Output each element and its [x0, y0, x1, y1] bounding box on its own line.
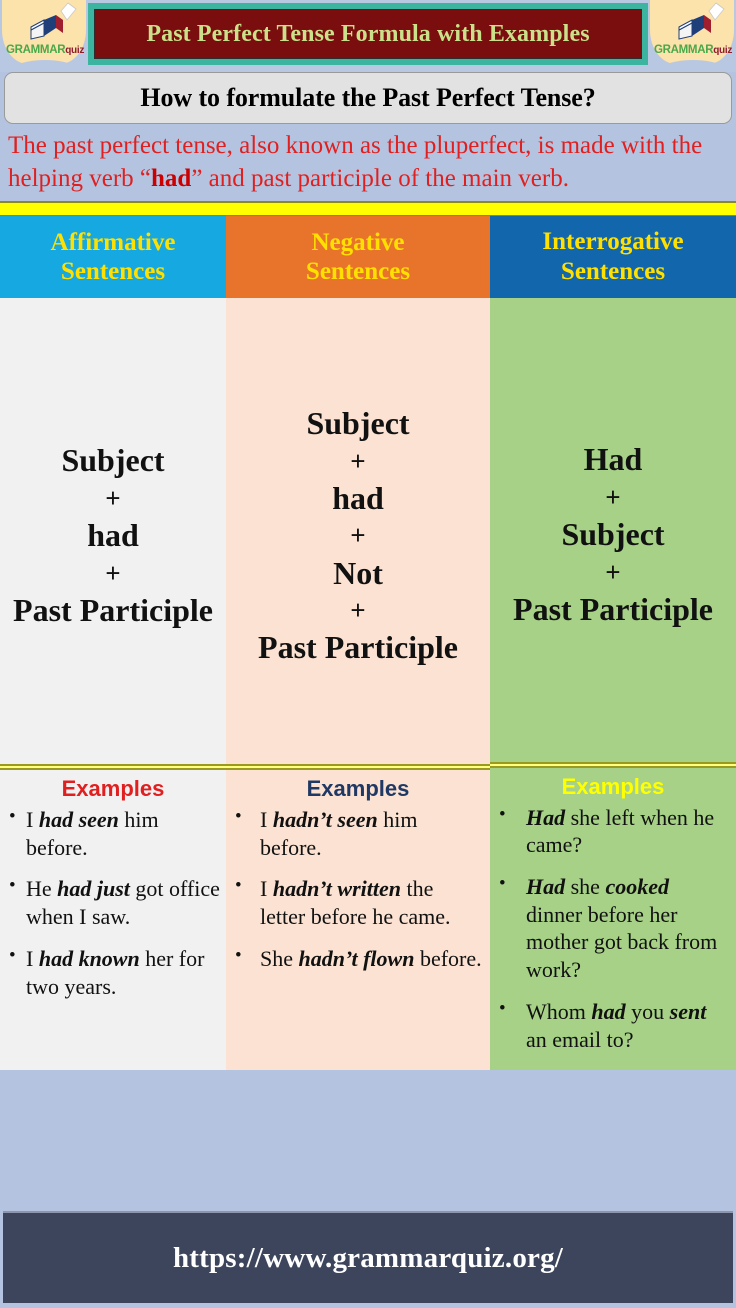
example-text-post: dinner before her mother got back from w…: [526, 902, 717, 982]
formula-term: Past Participle: [513, 592, 713, 628]
column-header-interrogative: Interrogative Sentences: [490, 216, 736, 298]
example-text-pre: I: [26, 946, 39, 971]
formula-term: Subject: [561, 517, 664, 553]
formula-plus: +: [350, 593, 365, 628]
example-text-pre: Whom: [526, 999, 591, 1024]
example-text-bold: had just: [57, 876, 130, 901]
examples-affirmative: Examples I had seen him before. He had j…: [0, 770, 226, 1070]
logo-right: GRAMMARquiz: [648, 0, 736, 72]
examples-list: Had she left when he came? Had she cooke…: [496, 804, 730, 1054]
example-text-bold: had known: [39, 946, 140, 971]
intro-emphasis: had: [151, 165, 191, 192]
intro-paragraph: The past perfect tense, also known as th…: [0, 124, 736, 201]
formula-term: Subject: [306, 406, 409, 442]
column-header-line1: Affirmative: [51, 228, 176, 258]
examples-interrogative: Examples Had she left when he came? Had …: [490, 768, 736, 1070]
example-text-bold: hadn’t seen: [273, 807, 378, 832]
list-item: I hadn’t seen him before.: [232, 806, 484, 861]
list-item: He had just got office when I saw.: [6, 875, 220, 930]
example-text-pre: He: [26, 876, 57, 901]
example-text-pre: I: [26, 807, 39, 832]
column-affirmative: Affirmative Sentences Subject + had + Pa…: [0, 216, 226, 1070]
formula-term: Not: [333, 556, 383, 592]
formula-affirmative: Subject + had + Past Participle: [0, 298, 226, 764]
formula-plus: +: [350, 518, 365, 553]
example-text-bold: hadn’t flown: [299, 946, 415, 971]
top-banner: GRAMMARquiz Past Perfect Tense Formula w…: [0, 0, 736, 72]
example-text-bold2: cooked: [605, 874, 669, 899]
section-heading-box: How to formulate the Past Perfect Tense?: [4, 72, 732, 124]
list-item: Had she left when he came?: [496, 804, 730, 859]
columns-container: Affirmative Sentences Subject + had + Pa…: [0, 216, 736, 1070]
formula-negative: Subject + had + Not + Past Participle: [226, 298, 490, 764]
examples-list: I had seen him before. He had just got o…: [6, 806, 220, 1000]
list-item: Had she cooked dinner before her mother …: [496, 873, 730, 984]
example-text-post: before.: [414, 946, 481, 971]
logo-wave-shape: [648, 60, 736, 72]
example-text-bold: Had: [526, 874, 565, 899]
example-text-mid: she: [565, 874, 605, 899]
formula-plus: +: [605, 480, 620, 515]
example-text-pre: She: [260, 946, 299, 971]
footer: https://www.grammarquiz.org/: [0, 1208, 736, 1308]
examples-title: Examples: [6, 776, 220, 802]
column-header-line2: Sentences: [61, 257, 165, 287]
infographic-page: GRAMMARquiz Past Perfect Tense Formula w…: [0, 0, 736, 1308]
column-negative: Negative Sentences Subject + had + Not +…: [226, 216, 490, 1070]
list-item: She hadn’t flown before.: [232, 945, 484, 973]
formula-interrogative: Had + Subject + Past Participle: [490, 298, 736, 762]
formula-plus: +: [105, 481, 120, 516]
column-header-line2: Sentences: [561, 257, 665, 287]
paper-sheet-icon: [58, 2, 78, 22]
formula-term: Past Participle: [13, 593, 213, 629]
formula-plus: +: [605, 555, 620, 590]
example-text-bold2: sent: [670, 999, 707, 1024]
examples-title: Examples: [496, 774, 730, 800]
example-text-mid: you: [626, 999, 670, 1024]
list-item: I had seen him before.: [6, 806, 220, 861]
example-text-bold: had seen: [39, 807, 119, 832]
example-text-pre: I: [260, 807, 273, 832]
list-item: I hadn’t written the letter before he ca…: [232, 875, 484, 930]
intro-part-2: ” and past participle of the main verb.: [191, 165, 569, 192]
list-item: Whom had you sent an email to?: [496, 998, 730, 1053]
title-box: Past Perfect Tense Formula with Examples: [94, 9, 642, 59]
list-item: I had known her for two years.: [6, 945, 220, 1000]
example-text-bold: hadn’t written: [273, 876, 401, 901]
logo-left: GRAMMARquiz: [0, 0, 88, 72]
page-title: Past Perfect Tense Formula with Examples: [146, 21, 589, 48]
formula-plus: +: [105, 556, 120, 591]
example-text-pre: I: [260, 876, 273, 901]
column-header-line1: Negative: [311, 228, 404, 258]
formula-term: had: [87, 518, 139, 554]
paper-sheet-icon: [706, 2, 726, 22]
column-interrogative: Interrogative Sentences Had + Subject + …: [490, 216, 736, 1070]
website-url[interactable]: https://www.grammarquiz.org/: [173, 1242, 563, 1275]
yellow-separator-bar: [0, 201, 736, 216]
section-heading: How to formulate the Past Perfect Tense?: [140, 83, 595, 113]
column-header-line2: Sentences: [306, 257, 410, 287]
logo-wave-shape: [0, 60, 88, 72]
formula-term: Had: [584, 442, 643, 478]
examples-list: I hadn’t seen him before. I hadn’t writt…: [232, 806, 484, 973]
example-text-bold: Had: [526, 805, 565, 830]
formula-term: Subject: [61, 443, 164, 479]
examples-title: Examples: [232, 776, 484, 802]
example-text-bold: had: [591, 999, 625, 1024]
formula-term: Past Participle: [258, 630, 458, 666]
title-band: Past Perfect Tense Formula with Examples: [88, 3, 648, 65]
footer-bar: https://www.grammarquiz.org/: [3, 1211, 733, 1303]
example-text-post: an email to?: [526, 1027, 634, 1052]
logo-right-text: GRAMMARquiz: [653, 44, 733, 56]
logo-left-text: GRAMMARquiz: [5, 44, 85, 56]
column-header-negative: Negative Sentences: [226, 216, 490, 298]
formula-plus: +: [350, 444, 365, 479]
formula-term: had: [332, 481, 384, 517]
column-header-line1: Interrogative: [542, 227, 683, 257]
column-header-affirmative: Affirmative Sentences: [0, 216, 226, 298]
examples-negative: Examples I hadn’t seen him before. I had…: [226, 770, 490, 1070]
